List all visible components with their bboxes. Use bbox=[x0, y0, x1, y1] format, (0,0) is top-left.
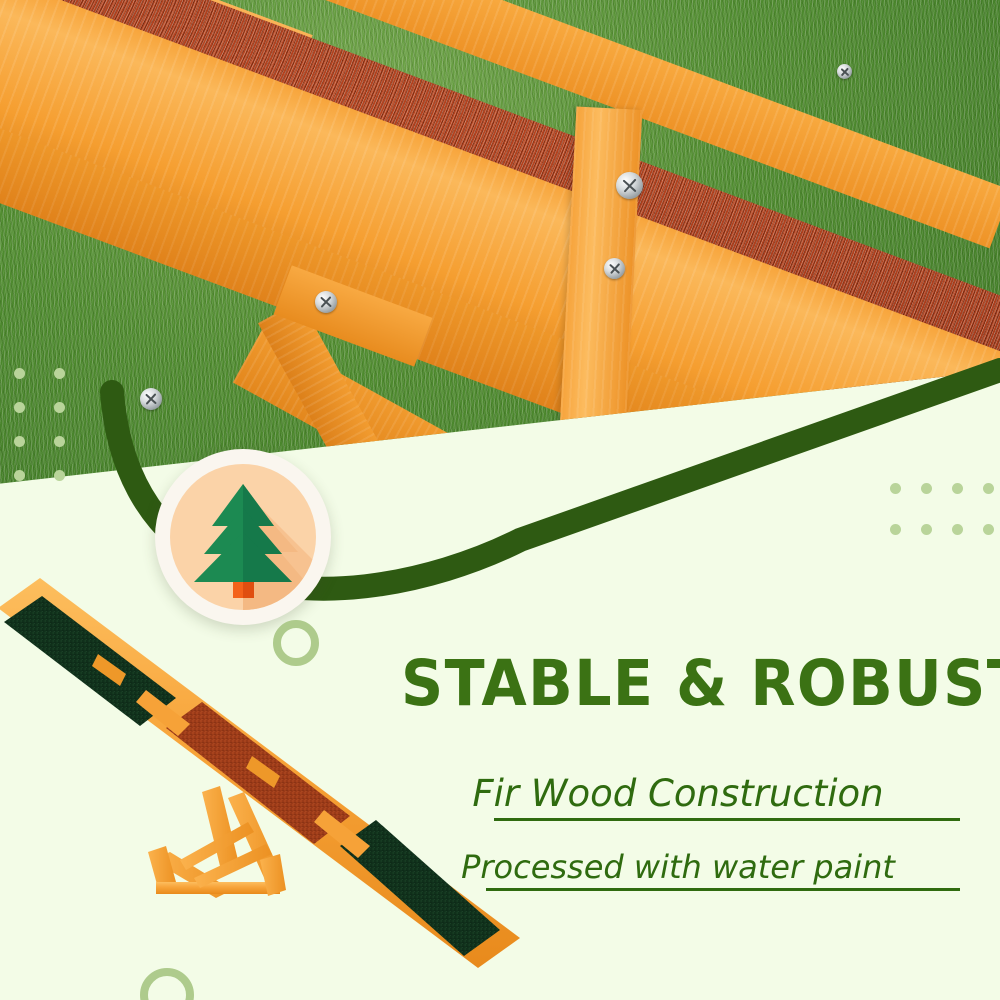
decor-dot bbox=[983, 524, 994, 535]
page-title: STABLE & ROBUST bbox=[401, 652, 959, 715]
feature-line-1: Fir Wood Construction bbox=[368, 772, 988, 815]
decor-dot bbox=[14, 402, 25, 413]
decor-dot bbox=[983, 483, 994, 494]
decor-ring-upper bbox=[273, 620, 319, 666]
feature-line-1-underline bbox=[494, 818, 960, 821]
green-grip-pad bbox=[340, 820, 500, 956]
banner-canvas: STABLE & ROBUST Fir Wood Construction Pr… bbox=[0, 0, 1000, 1000]
decor-dot bbox=[54, 436, 65, 447]
decor-dot bbox=[921, 483, 932, 494]
decor-dot bbox=[921, 524, 932, 535]
decor-dot bbox=[952, 483, 963, 494]
hero-product-photo bbox=[0, 0, 1000, 520]
screw-icon bbox=[616, 172, 643, 199]
decor-dot bbox=[54, 368, 65, 379]
dot-grid-right bbox=[890, 483, 1000, 565]
screw-icon bbox=[837, 64, 852, 79]
screw-icon bbox=[604, 258, 625, 279]
screw-icon bbox=[596, 458, 617, 479]
screw-icon bbox=[315, 291, 337, 313]
decor-dot bbox=[14, 368, 25, 379]
feature-line-2: Processed with water paint bbox=[368, 848, 988, 886]
decor-dot bbox=[54, 402, 65, 413]
decor-dot bbox=[14, 470, 25, 481]
dot-grid-left bbox=[14, 368, 94, 504]
decor-dot bbox=[952, 524, 963, 535]
decor-dot bbox=[890, 524, 901, 535]
decor-dot bbox=[54, 470, 65, 481]
feature-line-2-underline bbox=[486, 888, 960, 891]
decor-dot bbox=[890, 483, 901, 494]
decor-dot bbox=[14, 436, 25, 447]
screw-icon bbox=[140, 388, 162, 410]
